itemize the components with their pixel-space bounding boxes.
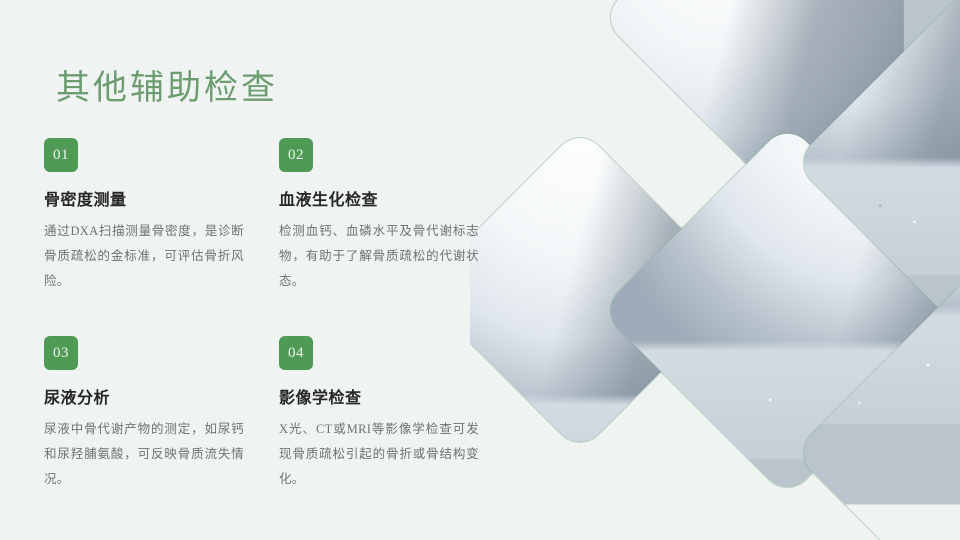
item-body-04: X光、CT或MRI等影像学检查可发现骨质疏松引起的骨折或骨结构变化。 xyxy=(279,417,479,492)
item-title-04: 影像学检查 xyxy=(279,384,494,408)
slide-root: 其他辅助检查 01 骨密度测量 通过DXA扫描测量骨密度，是诊断骨质疏松的金标准… xyxy=(0,0,960,540)
item-body-01: 通过DXA扫描测量骨密度，是诊断骨质疏松的金标准，可评估骨折风险。 xyxy=(44,219,244,294)
item-number-badge-03: 03 xyxy=(44,336,78,370)
item-body-03: 尿液中骨代谢产物的测定，如尿钙和尿羟脯氨酸，可反映骨质流失情况。 xyxy=(44,417,244,492)
item-card-03: 03 尿液分析 尿液中骨代谢产物的测定，如尿钙和尿羟脯氨酸，可反映骨质流失情况。 xyxy=(44,336,259,492)
item-card-01: 01 骨密度测量 通过DXA扫描测量骨密度，是诊断骨质疏松的金标准，可评估骨折风… xyxy=(44,138,259,294)
items-grid: 01 骨密度测量 通过DXA扫描测量骨密度，是诊断骨质疏松的金标准，可评估骨折风… xyxy=(44,138,494,492)
item-title-03: 尿液分析 xyxy=(44,384,259,408)
content-column: 其他辅助检查 01 骨密度测量 通过DXA扫描测量骨密度，是诊断骨质疏松的金标准… xyxy=(0,0,500,540)
item-body-02: 检测血钙、血磷水平及骨代谢标志物，有助于了解骨质疏松的代谢状态。 xyxy=(279,219,479,294)
media-collage xyxy=(470,0,960,540)
item-number-badge-02: 02 xyxy=(279,138,313,172)
item-title-01: 骨密度测量 xyxy=(44,186,259,210)
item-number-badge-01: 01 xyxy=(44,138,78,172)
item-title-02: 血液生化检查 xyxy=(279,186,494,210)
item-card-02: 02 血液生化检查 检测血钙、血磷水平及骨代谢标志物，有助于了解骨质疏松的代谢状… xyxy=(279,138,494,294)
item-card-04: 04 影像学检查 X光、CT或MRI等影像学检查可发现骨质疏松引起的骨折或骨结构… xyxy=(279,336,494,492)
page-title: 其他辅助检查 xyxy=(56,60,278,109)
item-number-badge-04: 04 xyxy=(279,336,313,370)
